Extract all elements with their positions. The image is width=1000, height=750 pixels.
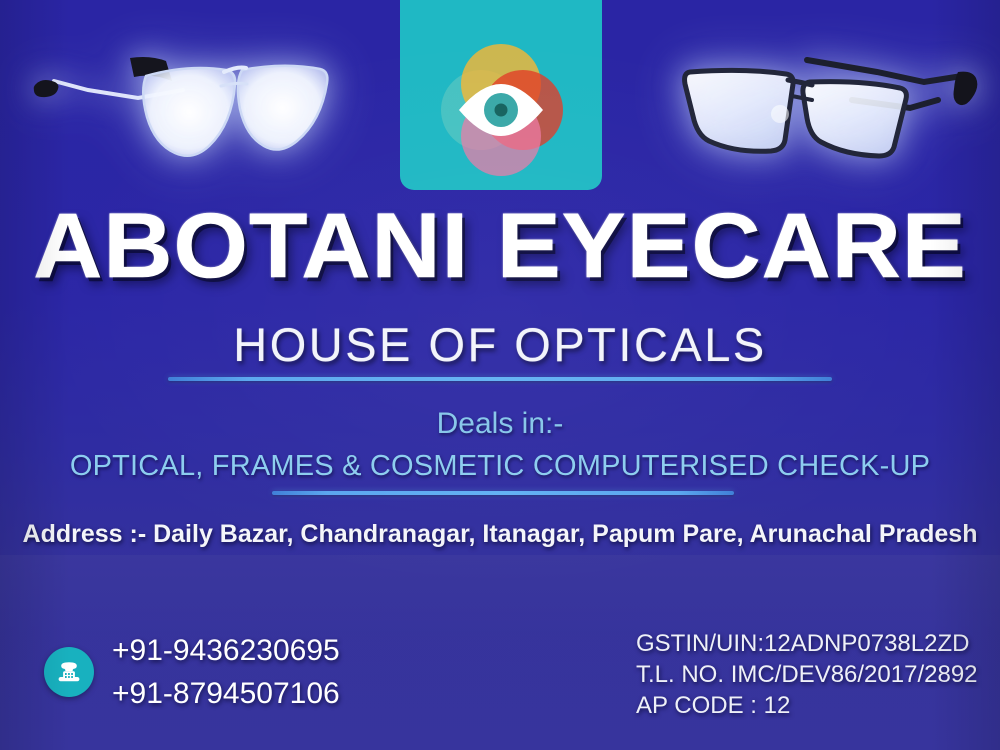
telephone-badge [44, 647, 94, 697]
deals-in-label: Deals in:- [0, 406, 1000, 442]
eyecare-shop-banner: ABOTANI EYECARE HOUSE OF OPTICALS Deals … [0, 0, 1000, 750]
aviator-glasses-image [18, 36, 338, 176]
divider-top [168, 377, 832, 381]
ap-code-line: AP CODE : 12 [636, 690, 978, 721]
eye-venn-circles-logo [431, 40, 571, 180]
phone-number-secondary: +91-8794507106 [112, 673, 340, 714]
trade-license-line: T.L. NO. IMC/DEV86/2017/2892 [636, 659, 978, 690]
page-title: ABOTANI EYECARE [0, 196, 1000, 296]
registration-block: GSTIN/UIN:12ADNP0738L2ZD T.L. NO. IMC/DE… [636, 628, 978, 721]
contact-block: +91-9436230695 +91-8794507106 [44, 630, 340, 714]
brand-subtitle: HOUSE OF OPTICALS [0, 318, 1000, 372]
phone-number-list: +91-9436230695 +91-8794507106 [112, 630, 340, 714]
phone-number-primary: +91-9436230695 [112, 630, 340, 671]
divider-bottom [272, 491, 734, 495]
telephone-icon [54, 657, 84, 687]
services-list: OPTICAL, FRAMES & COSMETIC COMPUTERISED … [0, 448, 1000, 484]
gstin-line: GSTIN/UIN:12ADNP0738L2ZD [636, 628, 978, 659]
abotani-logo-tile [400, 0, 602, 190]
rectangular-glasses-image [662, 36, 992, 176]
address-line: Address :- Daily Bazar, Chandranagar, It… [0, 518, 1000, 550]
